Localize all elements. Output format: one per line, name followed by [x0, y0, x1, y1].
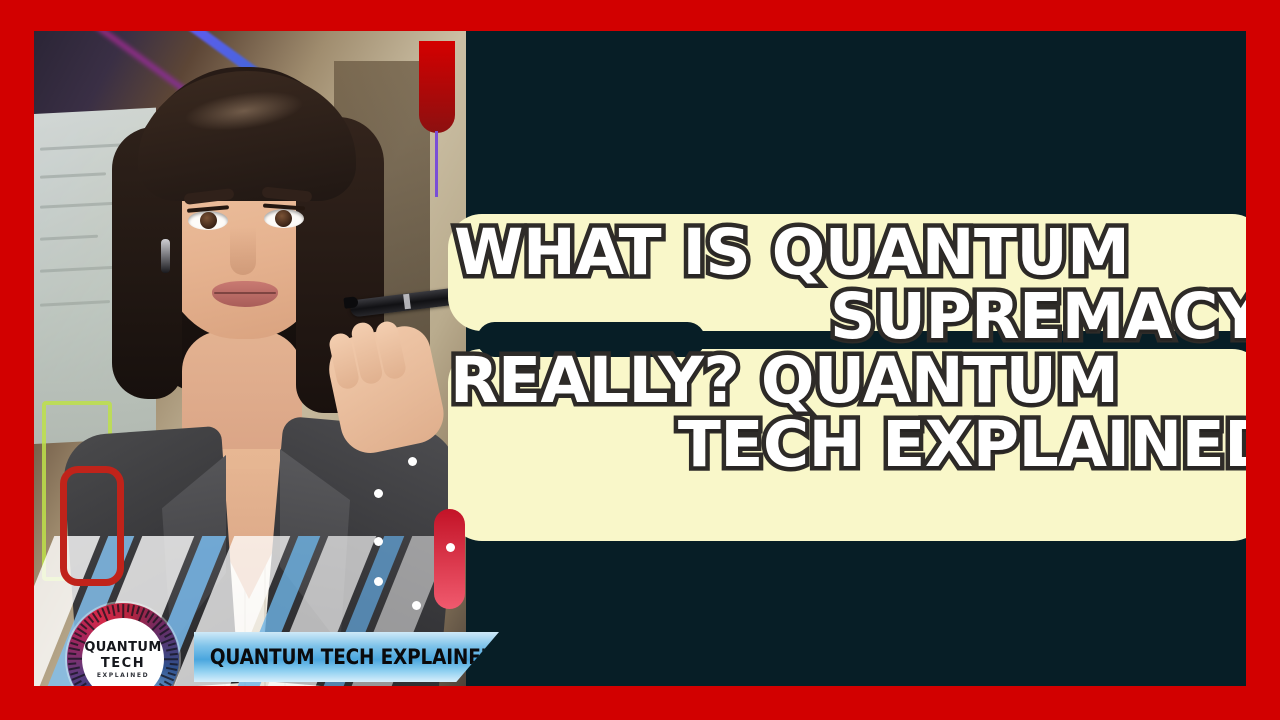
- decor-red-pill-top: [419, 41, 455, 133]
- decor-dot: [374, 577, 383, 586]
- decor-red-pill-middle: [434, 509, 465, 609]
- thumbnail-canvas: WHAT IS QUANTUM SUPREMACY, REALLY? QUANT…: [34, 31, 1246, 686]
- logo-tick-mark: [164, 680, 172, 685]
- logo-tick-mark: [122, 604, 124, 619]
- logo-tick-mark: [88, 616, 94, 623]
- iris-left: [200, 212, 217, 229]
- logo-tick-mark: [168, 642, 176, 646]
- logo-tick-mark: [166, 648, 177, 652]
- logo-tick-mark: [136, 606, 140, 614]
- logo-tick-mark: [68, 653, 76, 655]
- decor-dot: [412, 601, 421, 610]
- youtube-thumbnail: WHAT IS QUANTUM SUPREMACY, REALLY? QUANT…: [0, 0, 1280, 720]
- logo-tick-mark: [69, 667, 80, 671]
- logo-tick-mark: [168, 672, 176, 676]
- logo-tick-mark: [112, 605, 116, 616]
- hair-top: [138, 71, 356, 201]
- presenter-photo: [34, 31, 466, 686]
- logo-line-1: QUANTUM: [84, 640, 161, 655]
- title-line-4: TECH EXPLAINED: [438, 413, 1246, 477]
- banner-label: QUANTUM TECH EXPLAINED: [194, 645, 496, 669]
- logo-tick-mark: [163, 658, 178, 660]
- title-line-1: WHAT IS QUANTUM: [438, 221, 1246, 285]
- logo-tick-mark: [96, 610, 101, 618]
- thumbnail-title: WHAT IS QUANTUM SUPREMACY, REALLY? QUANT…: [438, 221, 1246, 477]
- logo-tick-mark: [70, 642, 78, 646]
- logo-tick-mark: [80, 624, 87, 630]
- iris-right: [275, 210, 292, 227]
- lip-line: [214, 292, 276, 294]
- logo-line-3: EXPLAINED: [97, 672, 149, 679]
- logo-tick-mark: [68, 663, 76, 665]
- logo-tick-mark: [170, 663, 178, 665]
- decor-red-rounded-rect: [60, 466, 124, 586]
- logo-tick-mark: [127, 604, 129, 612]
- logo-tick-mark: [131, 605, 135, 616]
- logo-tick-mark: [164, 632, 172, 637]
- decor-dot: [374, 537, 383, 546]
- channel-logo-badge: QUANTUM TECH EXPLAINED: [67, 603, 179, 686]
- logo-tick-mark: [69, 648, 80, 652]
- logo-tick-mark: [117, 604, 119, 612]
- title-line-2: SUPREMACY,: [438, 285, 1246, 349]
- decor-purple-line: [435, 131, 438, 197]
- decor-dot: [446, 543, 455, 552]
- decor-dot: [374, 489, 383, 498]
- channel-name-banner: QUANTUM TECH EXPLAINED: [194, 632, 499, 682]
- decor-dot: [408, 457, 417, 466]
- nose: [230, 227, 256, 275]
- logo-tick-mark: [70, 672, 78, 676]
- logo-tick-mark: [106, 606, 110, 614]
- logo-tick-mark: [68, 658, 83, 660]
- logo-tick-mark: [170, 653, 178, 655]
- logo-tick-mark: [166, 667, 177, 671]
- title-line-3: REALLY? QUANTUM: [438, 349, 1246, 413]
- logo-line-2: TECH: [101, 656, 145, 671]
- earring: [161, 239, 170, 273]
- logo-tick-mark: [74, 632, 82, 637]
